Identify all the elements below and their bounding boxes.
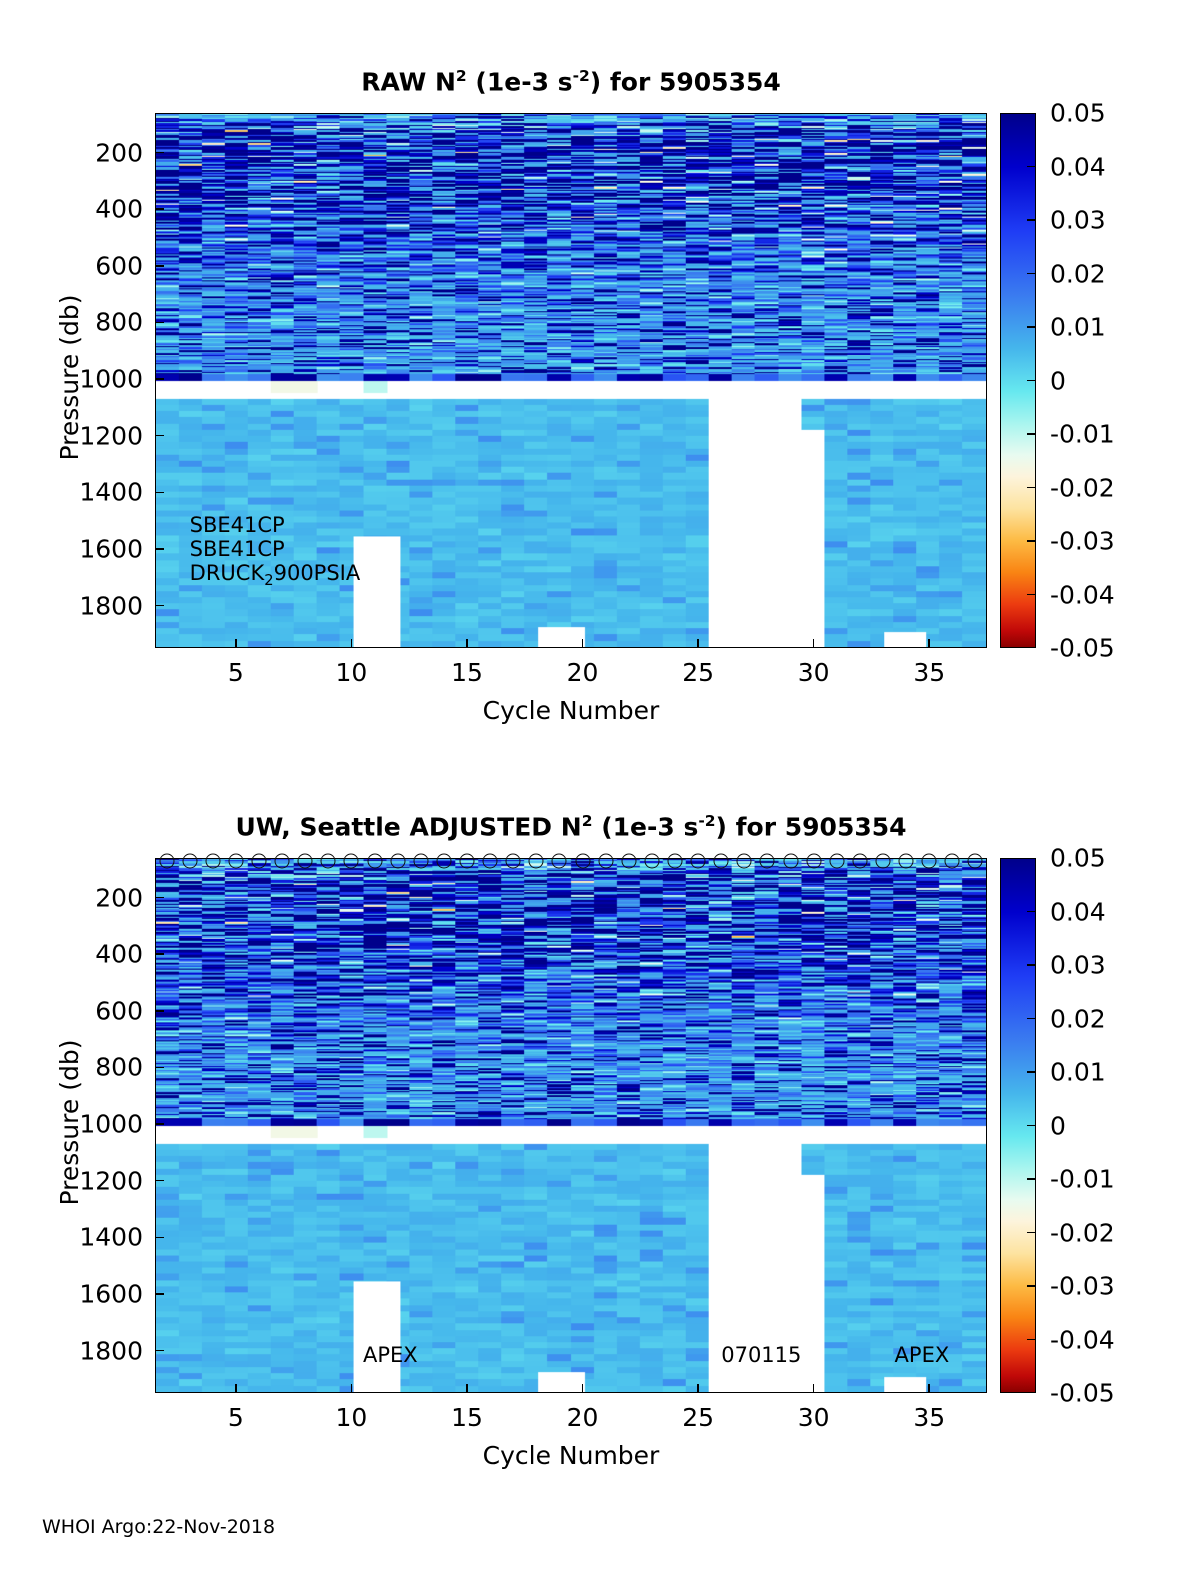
cycle-marker: [298, 853, 313, 868]
colorbar-tick-raw-7: -0.02: [1050, 473, 1115, 502]
cycle-marker: [321, 853, 336, 868]
plot-title-adjusted: UW, Seattle ADJUSTED N2 (1e-3 s-2) for 5…: [155, 812, 987, 841]
ytick-label-raw-1800: 1800: [79, 591, 143, 620]
cycle-marker: [252, 853, 267, 868]
cycle-marker: [390, 853, 405, 868]
colorbar-tick-adjusted-1: 0.04: [1050, 897, 1106, 926]
cycle-marker: [691, 853, 706, 868]
cycle-marker: [344, 853, 359, 868]
heatmap-adjusted: [156, 859, 986, 1392]
cycle-marker: [275, 853, 290, 868]
colorbar-tick-adjusted-2: 0.03: [1050, 951, 1106, 980]
xtick-label-adjusted-10: 10: [336, 1403, 368, 1432]
xtick-label-adjusted-5: 5: [228, 1403, 244, 1432]
ytick-label-adjusted-200: 200: [95, 883, 143, 912]
xtick-label-raw-5: 5: [228, 658, 244, 687]
cycle-marker: [228, 853, 243, 868]
cycle-marker: [598, 853, 613, 868]
ytick-label-raw-800: 800: [95, 308, 143, 337]
cycle-marker-row: [155, 850, 987, 872]
cycle-marker: [876, 853, 891, 868]
ytick-label-raw-1600: 1600: [79, 534, 143, 563]
cycle-marker: [968, 853, 983, 868]
cycle-marker: [668, 853, 683, 868]
colorbar-adjusted: [1000, 858, 1036, 1393]
cycle-marker: [159, 853, 174, 868]
cycle-marker: [829, 853, 844, 868]
xtick-label-adjusted-20: 20: [567, 1403, 599, 1432]
xtick-label-adjusted-15: 15: [451, 1403, 483, 1432]
ylabel-raw: Pressure (db): [55, 110, 84, 645]
xtick-label-raw-35: 35: [913, 658, 945, 687]
cycle-marker: [529, 853, 544, 868]
ytick-label-adjusted-1800: 1800: [79, 1336, 143, 1365]
colorbar-tick-adjusted-3: 0.02: [1050, 1004, 1106, 1033]
colorbar-tick-raw-9: -0.04: [1050, 580, 1115, 609]
cycle-marker: [205, 853, 220, 868]
ytick-label-adjusted-1400: 1400: [79, 1223, 143, 1252]
ylabel-adjusted: Pressure (db): [55, 855, 84, 1390]
colorbar-gradient-adjusted: [1001, 859, 1035, 1392]
annotation-raw-2: DRUCK2900PSIA: [190, 561, 361, 589]
xlabel-raw: Cycle Number: [155, 696, 987, 725]
ytick-label-raw-1000: 1000: [79, 365, 143, 394]
xlabel-adjusted: Cycle Number: [155, 1441, 987, 1470]
xtick-label-raw-10: 10: [336, 658, 368, 687]
annotation-raw-1: SBE41CP: [190, 537, 285, 561]
colorbar-tick-raw-2: 0.03: [1050, 206, 1106, 235]
ytick-label-adjusted-800: 800: [95, 1053, 143, 1082]
cycle-marker: [367, 853, 382, 868]
colorbar-tick-adjusted-5: 0: [1050, 1111, 1066, 1140]
ytick-label-adjusted-1200: 1200: [79, 1166, 143, 1195]
cycle-marker: [413, 853, 428, 868]
colorbar-gradient-raw: [1001, 114, 1035, 647]
colorbar-tick-raw-8: -0.03: [1050, 527, 1115, 556]
colorbar-tick-adjusted-6: -0.01: [1050, 1165, 1115, 1194]
figure-root: RAW N2 (1e-3 s-2) for 590535420040060080…: [0, 0, 1200, 1575]
xtick-label-raw-20: 20: [567, 658, 599, 687]
cycle-marker: [552, 853, 567, 868]
cycle-marker: [644, 853, 659, 868]
annotation-adjusted-0: APEX: [363, 1343, 418, 1367]
cycle-marker: [506, 853, 521, 868]
ytick-label-raw-1400: 1400: [79, 478, 143, 507]
xtick-label-adjusted-25: 25: [682, 1403, 714, 1432]
annotation-raw-0: SBE41CP: [190, 513, 285, 537]
colorbar-tick-raw-1: 0.04: [1050, 152, 1106, 181]
colorbar-tick-adjusted-9: -0.04: [1050, 1325, 1115, 1354]
colorbar-tick-raw-10: -0.05: [1050, 634, 1115, 663]
plot-area-adjusted: [155, 858, 987, 1393]
colorbar-tick-adjusted-8: -0.03: [1050, 1272, 1115, 1301]
colorbar-tick-raw-3: 0.02: [1050, 259, 1106, 288]
xtick-label-adjusted-35: 35: [913, 1403, 945, 1432]
cycle-marker: [737, 853, 752, 868]
annotation-adjusted-1: 070115: [721, 1343, 801, 1367]
ytick-label-raw-400: 400: [95, 195, 143, 224]
ytick-label-raw-1200: 1200: [79, 421, 143, 450]
annotation-adjusted-2: APEX: [895, 1343, 950, 1367]
cycle-marker: [621, 853, 636, 868]
ytick-label-raw-200: 200: [95, 138, 143, 167]
cycle-marker: [899, 853, 914, 868]
ytick-label-raw-600: 600: [95, 251, 143, 280]
ytick-label-adjusted-600: 600: [95, 996, 143, 1025]
cycle-marker: [806, 853, 821, 868]
colorbar-tick-raw-4: 0.01: [1050, 313, 1106, 342]
xtick-label-raw-15: 15: [451, 658, 483, 687]
colorbar-tick-adjusted-7: -0.02: [1050, 1218, 1115, 1247]
colorbar-tick-raw-5: 0: [1050, 366, 1066, 395]
cycle-marker: [783, 853, 798, 868]
footer-text: WHOI Argo:22-Nov-2018: [42, 1516, 275, 1538]
cycle-marker: [852, 853, 867, 868]
plot-title-raw: RAW N2 (1e-3 s-2) for 5905354: [155, 67, 987, 96]
cycle-marker: [922, 853, 937, 868]
xtick-label-raw-30: 30: [798, 658, 830, 687]
colorbar-tick-raw-6: -0.01: [1050, 420, 1115, 449]
ytick-label-adjusted-1000: 1000: [79, 1110, 143, 1139]
cycle-marker: [436, 853, 451, 868]
xtick-label-adjusted-30: 30: [798, 1403, 830, 1432]
cycle-marker: [760, 853, 775, 868]
ytick-label-adjusted-1600: 1600: [79, 1279, 143, 1308]
cycle-marker: [575, 853, 590, 868]
ytick-label-adjusted-400: 400: [95, 940, 143, 969]
colorbar-tick-adjusted-4: 0.01: [1050, 1058, 1106, 1087]
colorbar-tick-raw-0: 0.05: [1050, 99, 1106, 128]
cycle-marker: [460, 853, 475, 868]
cycle-marker: [714, 853, 729, 868]
xtick-label-raw-25: 25: [682, 658, 714, 687]
cycle-marker: [945, 853, 960, 868]
cycle-marker: [182, 853, 197, 868]
cycle-marker: [483, 853, 498, 868]
colorbar-tick-adjusted-10: -0.05: [1050, 1379, 1115, 1408]
colorbar-tick-adjusted-0: 0.05: [1050, 844, 1106, 873]
colorbar-raw: [1000, 113, 1036, 648]
